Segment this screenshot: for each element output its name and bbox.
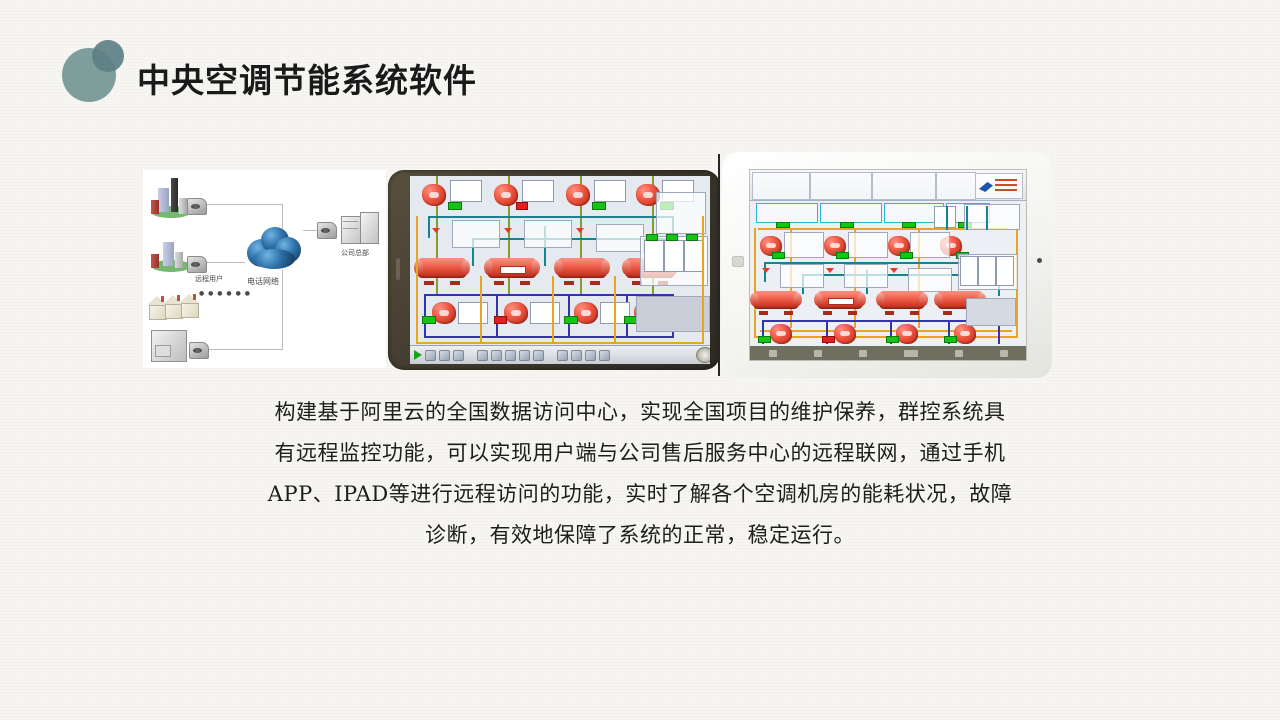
data-chip xyxy=(458,302,488,324)
slide-divider xyxy=(718,154,720,376)
pipe-chilled xyxy=(424,336,674,338)
pipe-cooling xyxy=(416,216,418,344)
status-indicator-off xyxy=(494,316,507,324)
pipe-condenser xyxy=(986,206,988,230)
pump-icon xyxy=(566,184,590,206)
pump-icon xyxy=(494,184,518,206)
status-indicator-on xyxy=(886,336,899,343)
scada-canvas xyxy=(410,176,710,364)
slide-caption: 构建基于阿里云的全国数据访问中心，实现全国项目的维护保养，群控系统具 有远程监控… xyxy=(180,392,1100,556)
slide-header: 中央空调节能系统软件 xyxy=(0,0,1280,140)
diagram-link xyxy=(282,270,283,350)
chiller-icon xyxy=(878,286,926,316)
modem-icon xyxy=(187,256,207,273)
pipe-cooling xyxy=(614,276,616,344)
android-phone-dark xyxy=(388,170,720,370)
nav-icon[interactable] xyxy=(955,350,963,357)
status-indicator-on xyxy=(666,234,678,241)
ahu-panel xyxy=(966,298,1016,326)
toolbar-icon[interactable] xyxy=(557,350,568,361)
brand-logo xyxy=(975,173,1023,199)
status-indicator-on xyxy=(900,252,913,259)
toolbar-icon[interactable] xyxy=(477,350,488,361)
scada-header-bar xyxy=(750,170,1026,201)
nav-icon[interactable] xyxy=(859,350,867,357)
chiller-icon xyxy=(752,286,800,316)
data-chip xyxy=(684,240,704,272)
toolbar-icon[interactable] xyxy=(533,350,544,361)
toolbar-icon[interactable] xyxy=(571,350,582,361)
pipe-cooling xyxy=(480,276,482,344)
nav-icon[interactable] xyxy=(1000,350,1008,357)
toolbar-icon[interactable] xyxy=(519,350,530,361)
status-indicator-on xyxy=(646,234,658,241)
pipe-condenser xyxy=(428,216,674,218)
android-nav-bar[interactable] xyxy=(750,346,1026,360)
cloud-icon xyxy=(243,225,305,273)
headquarters-label: 公司总部 xyxy=(341,248,369,258)
toolbar-icon[interactable] xyxy=(505,350,516,361)
valve-icon xyxy=(826,268,834,273)
pump-icon xyxy=(834,324,856,344)
valve-icon xyxy=(432,228,440,233)
diagram-link xyxy=(203,349,283,350)
status-indicator-on xyxy=(592,202,606,210)
module-box[interactable] xyxy=(756,203,818,223)
header-cell xyxy=(872,172,936,200)
data-chip xyxy=(522,180,554,202)
module-box[interactable] xyxy=(820,203,882,223)
network-topology-diagram: 电话网络 公司总部 远程用户 ● ● ● ● ● ● xyxy=(143,170,386,368)
ellipsis-label: ● ● ● ● ● ● xyxy=(199,290,251,297)
pipe-condenser xyxy=(946,206,948,230)
header-cell xyxy=(810,172,872,200)
status-indicator-off xyxy=(516,202,528,210)
ipad-white xyxy=(722,152,1052,378)
nav-icon[interactable] xyxy=(814,350,822,357)
overlapping-circles-logo xyxy=(62,40,134,108)
info-panel xyxy=(910,232,950,258)
status-indicator-on xyxy=(564,316,578,324)
caption-line-2: 有远程监控功能，可以实现用户端与公司售后服务中心的远程联网，通过手机 xyxy=(180,433,1100,474)
status-indicator-on xyxy=(422,316,436,324)
pump-icon xyxy=(896,324,918,344)
info-panel xyxy=(780,264,824,288)
house-group-icon xyxy=(147,292,203,320)
info-panel xyxy=(848,232,888,258)
status-indicator-on xyxy=(836,252,849,259)
speaker-icon xyxy=(396,258,400,280)
ahu-panel xyxy=(636,296,710,332)
info-panel xyxy=(524,220,572,248)
scada-toolbar[interactable] xyxy=(410,345,710,364)
workstation-icon xyxy=(151,330,187,362)
pump-icon xyxy=(954,324,976,344)
diagram-link xyxy=(205,204,283,205)
pipe-cooling xyxy=(552,276,554,344)
keyboard-icon[interactable] xyxy=(904,350,918,357)
pump-icon xyxy=(504,302,528,324)
pump-icon xyxy=(422,184,446,206)
swoosh-icon xyxy=(979,182,993,192)
status-indicator-off xyxy=(822,336,835,343)
modem-icon xyxy=(187,198,207,215)
data-chip xyxy=(934,206,956,228)
server-rack-icon xyxy=(341,212,377,244)
status-indicator-on xyxy=(448,202,462,210)
toolbar-icon[interactable] xyxy=(453,350,464,361)
data-chip xyxy=(978,256,996,286)
modem-icon xyxy=(189,342,209,359)
valve-icon xyxy=(890,268,898,273)
nav-icon[interactable] xyxy=(769,350,777,357)
data-chip xyxy=(996,256,1014,286)
header-cell xyxy=(752,172,810,200)
valve-icon xyxy=(576,228,584,233)
scada-screen-white[interactable] xyxy=(750,170,1026,360)
data-chip xyxy=(960,256,978,286)
toolbar-icon[interactable] xyxy=(599,350,610,361)
diagram-link xyxy=(205,262,245,263)
toolbar-icon[interactable] xyxy=(491,350,502,361)
info-panel xyxy=(452,220,500,248)
info-panel xyxy=(844,264,888,288)
pipe-cooling xyxy=(416,342,702,344)
home-button[interactable] xyxy=(1037,258,1042,263)
caption-line-4: 诊断，有效地保障了系统的正常，稳定运行。 xyxy=(180,515,1100,556)
info-panel xyxy=(596,224,644,252)
header-cell xyxy=(936,172,976,200)
modem-icon xyxy=(317,222,337,239)
data-chip xyxy=(664,240,684,272)
chiller-icon xyxy=(416,252,468,286)
status-indicator-on xyxy=(772,252,785,259)
pipe-chilled xyxy=(762,320,1000,322)
data-chip xyxy=(594,180,626,202)
chiller-icon xyxy=(556,252,608,286)
scada-canvas xyxy=(750,170,1026,360)
toolbar-icon[interactable] xyxy=(439,350,450,361)
valve-icon xyxy=(504,228,512,233)
pipe-cooling xyxy=(754,228,756,338)
info-panel xyxy=(784,232,824,258)
status-indicator-on xyxy=(944,336,957,343)
logo-small-circle xyxy=(92,40,124,72)
caption-line-3: APP、IPAD等进行远程访问的功能，实时了解各个空调机房的能耗状况，故障 xyxy=(180,474,1100,515)
caption-line-1: 构建基于阿里云的全国数据访问中心，实现全国项目的维护保养，群控系统具 xyxy=(180,392,1100,433)
control-panel xyxy=(964,204,1020,230)
play-button[interactable] xyxy=(414,350,422,360)
pipe-cooling xyxy=(702,216,704,344)
chiller-icon xyxy=(816,286,864,316)
info-panel xyxy=(656,192,706,234)
toolbar-icon[interactable] xyxy=(585,350,596,361)
clock-icon xyxy=(696,347,710,363)
cloud-label: 电话网络 xyxy=(247,276,279,287)
valve-icon xyxy=(762,268,770,273)
pipe-condenser xyxy=(428,216,430,238)
data-chip xyxy=(450,180,482,202)
scada-screen-dark[interactable] xyxy=(410,176,710,364)
pipe-condenser xyxy=(966,206,968,230)
page-title: 中央空调节能系统软件 xyxy=(137,62,477,100)
data-chip xyxy=(644,240,664,272)
remote-users-label: 远程用户 xyxy=(195,274,223,284)
status-indicator-on xyxy=(686,234,698,241)
camera-icon xyxy=(732,256,744,267)
chiller-icon xyxy=(486,252,538,286)
pump-icon xyxy=(770,324,792,344)
toolbar-icon[interactable] xyxy=(425,350,436,361)
media-row: 电话网络 公司总部 远程用户 ● ● ● ● ● ● xyxy=(0,140,1280,380)
status-indicator-on xyxy=(758,336,771,343)
data-chip xyxy=(530,302,560,324)
